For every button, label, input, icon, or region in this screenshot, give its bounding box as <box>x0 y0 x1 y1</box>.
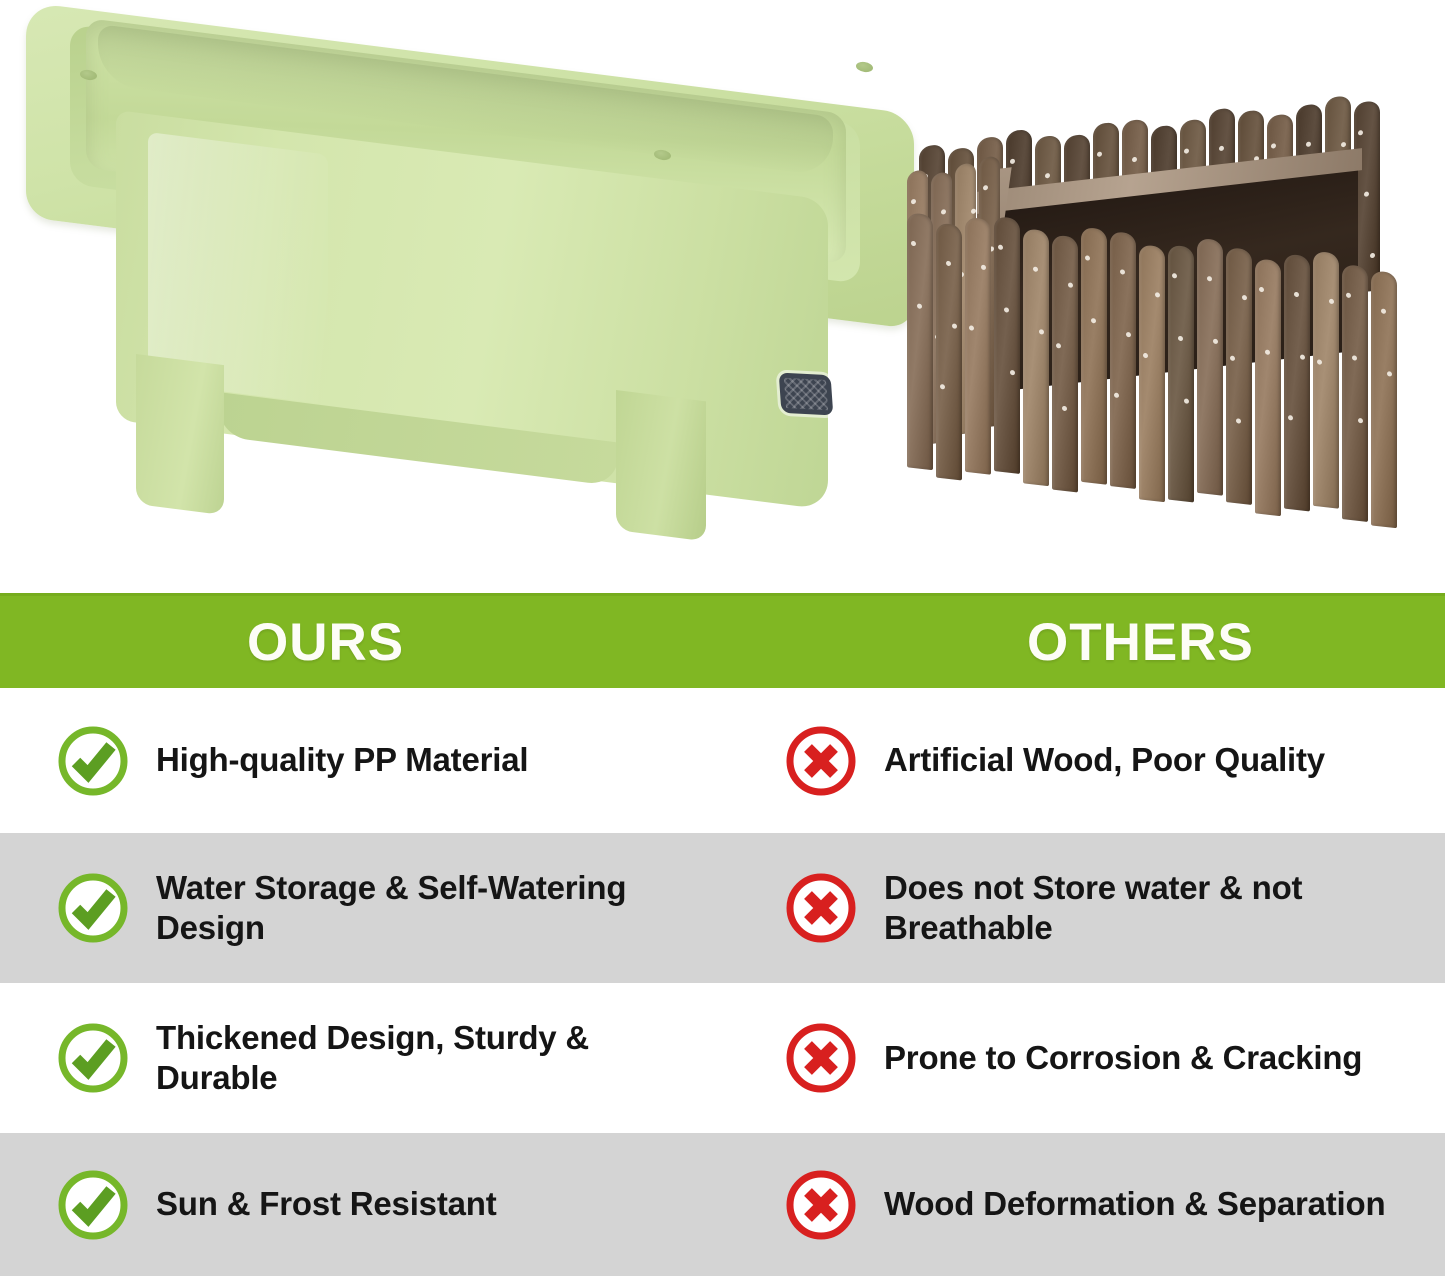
comparison-rows: High-quality PP Material Artificial Wood… <box>0 688 1445 1276</box>
check-circle-icon <box>52 1017 134 1099</box>
wood-nail <box>1265 349 1270 355</box>
comparison-row: Water Storage & Self-Watering Design Doe… <box>0 833 1445 983</box>
feature-label-others: Prone to Corrosion & Cracking <box>884 1038 1362 1078</box>
wood-picket <box>1110 231 1136 489</box>
wood-nail <box>1068 282 1073 288</box>
check-circle-icon <box>52 1164 134 1246</box>
planter-foot-right <box>616 390 706 541</box>
wood-nail <box>1097 151 1102 157</box>
wood-nail <box>1306 142 1311 148</box>
wood-nail <box>946 261 951 267</box>
comparison-header-band: OURS OTHERS <box>0 593 1445 688</box>
wood-nail <box>1294 292 1299 298</box>
wood-nail <box>917 303 922 309</box>
wood-nail <box>1132 157 1137 163</box>
wood-nail <box>1230 355 1235 361</box>
wood-nail <box>1033 267 1038 273</box>
wood-nail <box>1184 398 1189 404</box>
wood-nail <box>1259 287 1264 293</box>
wood-nail <box>1178 335 1183 341</box>
wood-nail <box>1004 307 1009 313</box>
wood-nail <box>981 265 986 271</box>
comparison-cell-ours: Thickened Design, Sturdy & Durable <box>0 1017 760 1099</box>
wood-nail <box>1126 332 1131 338</box>
wood-nail <box>1056 343 1061 349</box>
wood-picket <box>1313 251 1339 509</box>
feature-label-ours: High-quality PP Material <box>156 740 528 780</box>
wood-picket <box>1052 234 1078 492</box>
feature-label-others: Wood Deformation & Separation <box>884 1184 1385 1224</box>
wood-nail <box>1010 159 1015 165</box>
planter-foot-left <box>136 354 224 515</box>
wood-nail <box>1358 130 1363 136</box>
wood-picket <box>1255 258 1281 516</box>
wood-nail <box>1242 295 1247 301</box>
feature-label-ours: Water Storage & Self-Watering Design <box>156 868 716 949</box>
wood-nail <box>1364 192 1369 198</box>
planter-screw-hole <box>856 61 873 73</box>
comparison-cell-ours: Sun & Frost Resistant <box>0 1164 760 1246</box>
wood-picket <box>1342 264 1368 522</box>
cross-circle-icon <box>780 1164 862 1246</box>
header-others-label: OTHERS <box>1027 616 1254 669</box>
comparison-cell-ours: High-quality PP Material <box>0 720 760 802</box>
feature-label-ours: Sun & Frost Resistant <box>156 1184 497 1224</box>
feature-label-ours: Thickened Design, Sturdy & Durable <box>156 1018 716 1099</box>
check-circle-icon <box>52 720 134 802</box>
comparison-row: Sun & Frost Resistant Wood Deformation &… <box>0 1133 1445 1276</box>
wood-nail <box>1120 269 1125 275</box>
wood-picket <box>1371 270 1397 528</box>
wood-nail <box>983 185 988 191</box>
wood-picket <box>1168 244 1194 502</box>
wood-nail <box>1387 371 1392 377</box>
wood-nail <box>1155 292 1160 298</box>
wood-nail <box>1341 142 1346 148</box>
feature-label-others: Does not Store water & not Breathable <box>884 868 1444 949</box>
wood-nail <box>911 241 916 247</box>
product-image-area <box>0 0 1445 593</box>
wood-nail <box>1358 417 1363 423</box>
wood-nail <box>1236 418 1241 424</box>
wood-nail <box>1091 318 1096 324</box>
wood-nail <box>1381 309 1386 315</box>
wood-nail <box>1184 149 1189 155</box>
comparison-cell-others: Artificial Wood, Poor Quality <box>760 720 1445 802</box>
wood-nail <box>1352 355 1357 361</box>
wood-nail <box>1300 355 1305 361</box>
wood-nail <box>952 323 957 329</box>
wood-nail <box>1085 255 1090 261</box>
wood-nail <box>1062 405 1067 411</box>
cross-circle-icon <box>780 1017 862 1099</box>
wood-nail <box>1010 369 1015 375</box>
wood-picket <box>1226 247 1252 505</box>
wood-nail <box>1219 146 1224 152</box>
wood-nail <box>1346 292 1351 298</box>
wood-nail <box>941 209 946 215</box>
feature-label-others: Artificial Wood, Poor Quality <box>884 740 1325 780</box>
wood-nail <box>1288 415 1293 421</box>
wood-nail <box>1213 339 1218 345</box>
wood-nail <box>1271 143 1276 149</box>
wood-nail <box>1317 359 1322 365</box>
wood-nail <box>1172 273 1177 279</box>
wood-picket <box>994 216 1020 474</box>
wood-picket <box>907 212 933 470</box>
wood-nail <box>998 244 1003 250</box>
wood-nail <box>1114 392 1119 398</box>
check-circle-icon <box>52 867 134 949</box>
wood-nail <box>1207 276 1212 282</box>
wood-picket <box>1284 254 1310 512</box>
wood-picket <box>1023 229 1049 487</box>
comparison-cell-others: Wood Deformation & Separation <box>760 1164 1445 1246</box>
wood-nail <box>1045 173 1050 179</box>
wood-nail <box>940 384 945 390</box>
green-plastic-planter-image <box>18 2 918 542</box>
wood-nail <box>1370 253 1375 259</box>
wood-nail <box>1039 330 1044 336</box>
wood-picket <box>1139 244 1165 502</box>
wood-picket <box>965 217 991 475</box>
cross-circle-icon <box>780 867 862 949</box>
comparison-cell-others: Does not Store water & not Breathable <box>760 867 1445 949</box>
wood-picket <box>1081 227 1107 485</box>
wood-picket <box>1197 238 1223 496</box>
wooden-picket-planter-image <box>893 122 1413 562</box>
comparison-row: Thickened Design, Sturdy & Durable Prone… <box>0 983 1445 1133</box>
comparison-cell-others: Prone to Corrosion & Cracking <box>760 1017 1445 1099</box>
cross-circle-icon <box>780 720 862 802</box>
drainage-vent-icon <box>779 373 834 416</box>
header-ours-label: OURS <box>247 616 404 669</box>
comparison-cell-ours: Water Storage & Self-Watering Design <box>0 867 760 949</box>
wood-front-pickets <box>907 212 1401 557</box>
wood-nail <box>969 325 974 331</box>
comparison-row: High-quality PP Material Artificial Wood… <box>0 688 1445 833</box>
wood-nail <box>1329 299 1334 305</box>
wood-nail <box>911 199 916 205</box>
wood-picket <box>936 222 962 480</box>
wood-nail <box>1143 353 1148 359</box>
wood-nail <box>971 208 976 214</box>
